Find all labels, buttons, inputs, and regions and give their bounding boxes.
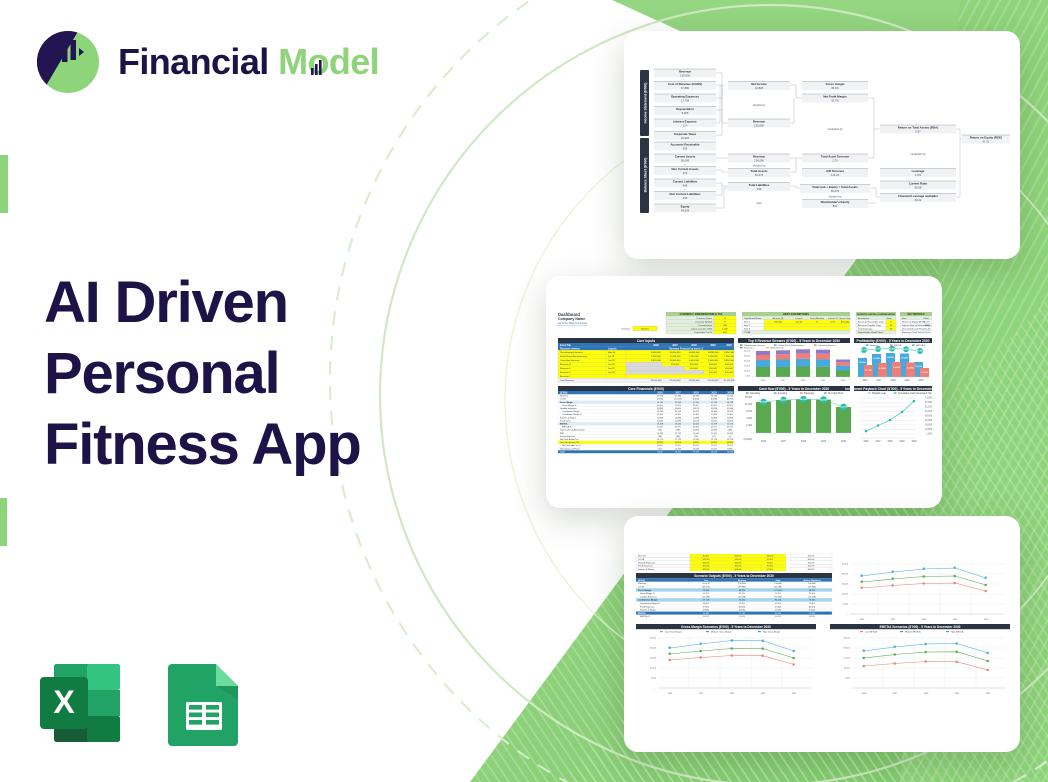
svg-text:40,000: 40,000 (745, 404, 753, 406)
svg-text:2027: 2027 (675, 392, 681, 395)
brand-name-secondary: Model (278, 41, 379, 82)
svg-text:650,000: 650,000 (725, 364, 734, 366)
logo-bar-glyph-icon (306, 56, 328, 78)
svg-text:Revenue Forecast by years, $: Revenue Forecast by years, $ (669, 347, 703, 350)
svg-text:11,535: 11,535 (693, 439, 700, 441)
svg-text:TOTAL: TOTAL (744, 331, 752, 334)
svg-text:65.3%: 65.3% (903, 349, 909, 351)
svg-text:45,218: 45,218 (780, 399, 787, 402)
svg-text:14,700: 14,700 (893, 366, 900, 369)
scenario-svg: .t2 {font:3.2px "Liberation Sans",sans-s… (634, 552, 1010, 730)
svg-text:34,013: 34,013 (840, 406, 847, 409)
svg-text:136,800: 136,800 (808, 583, 816, 585)
svg-text:Total Liabilities: Total Liabilities (749, 183, 770, 187)
svg-text:EBITDA: EBITDA (894, 344, 902, 347)
svg-text:42,000: 42,000 (744, 351, 751, 353)
svg-text:60.2%: 60.2% (775, 616, 781, 618)
svg-text:550,000: 550,000 (709, 364, 718, 366)
brand-name-primary: Financial (118, 41, 269, 82)
svg-text:High Gross Margin: High Gross Margin (763, 630, 781, 633)
svg-text:120.0%: 120.0% (766, 556, 773, 558)
svg-text:26,930: 26,930 (693, 396, 700, 398)
svg-text:18,000: 18,000 (925, 425, 932, 427)
svg-text:5,000: 5,000 (843, 604, 849, 606)
svg-text:100.0%: 100.0% (807, 559, 814, 561)
svg-text:11,091: 11,091 (711, 448, 718, 450)
svg-text:100.0%: 100.0% (734, 569, 741, 571)
svg-text:Medium Gross Margin: Medium Gross Margin (711, 630, 732, 633)
svg-text:Revenue: Revenue (679, 70, 691, 74)
svg-text:1,000: 1,000 (746, 425, 752, 427)
svg-text:144.24: 144.24 (831, 173, 840, 177)
svg-text:45.6%: 45.6% (657, 427, 663, 429)
svg-text:Currency Name: Currency Name (697, 317, 713, 320)
svg-text:Jan 28: Jan 28 (608, 364, 615, 366)
svg-text:49.5%: 49.5% (675, 427, 681, 429)
svg-text:550,000: 550,000 (671, 364, 680, 366)
svg-text:Fixed Expenses: Fixed Expenses (640, 606, 655, 608)
svg-text:52,887: 52,887 (703, 613, 710, 615)
svg-text:Operating: Operating (750, 392, 761, 395)
svg-text:26,000: 26,000 (925, 420, 932, 422)
svg-text:4,640,000: 4,640,000 (689, 360, 700, 362)
svg-text:Interest Expense: Interest Expense (560, 435, 576, 438)
svg-text:Revenue 5: Revenue 5 (560, 368, 571, 370)
svg-text:(9,426): (9,426) (693, 399, 700, 401)
dupont-tree-card[interactable]: .lbl{font:2.9px "Liberation Sans",sans-s… (624, 31, 1020, 259)
svg-text:Return on Equity (ROE): Return on Equity (ROE) (902, 320, 925, 323)
svg-text:26,530: 26,530 (711, 396, 718, 398)
svg-text:Physiotherapy Services: Physiotherapy Services (744, 344, 765, 347)
svg-text:16,890,000: 16,890,000 (708, 352, 720, 354)
svg-text:Item 2: Item 2 (744, 324, 751, 327)
svg-text:(1,080): (1,080) (727, 417, 734, 419)
svg-text:30,000: 30,000 (842, 574, 849, 576)
svg-text:Salaries & Wages: Salaries & Wages (640, 609, 656, 612)
svg-text:(1,372): (1,372) (727, 420, 734, 422)
svg-text:Other Revenue: Other Revenue (770, 347, 784, 350)
svg-text:Total Revenue: Total Revenue (560, 379, 575, 382)
svg-text:(8,792): (8,792) (727, 399, 734, 401)
svg-text:65.0%: 65.0% (727, 405, 733, 407)
svg-text:65.0%: 65.0% (739, 593, 745, 595)
svg-text:76,352: 76,352 (739, 600, 746, 602)
svg-text:11,300: 11,300 (865, 370, 872, 372)
svg-text:450,000: 450,000 (725, 368, 734, 370)
svg-text:2028: 2028 (801, 441, 807, 443)
svg-text:25,120: 25,120 (727, 396, 734, 398)
svg-text:(5,400): (5,400) (739, 610, 746, 612)
svg-text:15,120: 15,120 (915, 366, 922, 368)
svg-text:(1,080): (1,080) (675, 417, 682, 419)
svg-text:95,152: 95,152 (775, 600, 782, 602)
svg-text:40,000: 40,000 (844, 638, 851, 640)
svg-text:Cost of Revenue (COGS): Cost of Revenue (COGS) (668, 82, 702, 86)
svg-text:2026: 2026 (761, 441, 767, 443)
svg-text:Depreciation: Depreciation (676, 107, 694, 111)
svg-text:34.7%: 34.7% (711, 445, 717, 447)
svg-text:107,094: 107,094 (774, 590, 782, 592)
svg-text:100.0%: 100.0% (807, 556, 814, 558)
svg-text:11,563: 11,563 (693, 433, 700, 435)
svg-text:20,000: 20,000 (650, 648, 657, 650)
svg-text:11,278: 11,278 (727, 439, 734, 441)
svg-text:2027: 2027 (781, 380, 786, 382)
svg-text:Denomination: Denomination (699, 324, 713, 327)
svg-text:(3,052): (3,052) (657, 442, 664, 444)
svg-text:EBIT: EBIT (560, 433, 565, 435)
svg-text:51,000: 51,000 (925, 407, 932, 409)
svg-text:46.9%: 46.9% (693, 427, 699, 429)
svg-text:Gross margin: Gross margin (826, 82, 845, 86)
svg-text:Core Inputs: Core Inputs (637, 339, 655, 343)
svg-text:Company Name: Company Name (558, 317, 585, 321)
svg-text:2027: 2027 (699, 693, 704, 695)
svg-text:(3,352): (3,352) (711, 442, 718, 444)
svg-text:COGS: COGS (560, 399, 567, 401)
svg-text:62.0%: 62.0% (917, 351, 923, 353)
svg-text:Revenue streams: Revenue streams (560, 347, 580, 350)
svg-text:32.7%: 32.7% (831, 98, 839, 102)
svg-text:Corporation Tax %: Corporation Tax % (694, 331, 712, 334)
svg-text:2030: 2030 (841, 380, 846, 382)
svg-text:2027: 2027 (891, 619, 896, 621)
svg-text:26,930: 26,930 (887, 357, 894, 359)
svg-text:(4,185): (4,185) (775, 610, 782, 612)
brand-wordmark: Financial Model (118, 41, 379, 83)
svg-text:10,860,000: 10,860,000 (670, 352, 682, 354)
svg-text:EBITDA: EBITDA (638, 612, 646, 615)
svg-text:Latest accounts (Y/N): Latest accounts (Y/N) (691, 328, 712, 331)
svg-text:2027: 2027 (893, 693, 898, 695)
svg-text:10,009: 10,009 (693, 448, 700, 450)
svg-text:COGS: COGS (638, 559, 645, 561)
svg-text:2029: 2029 (711, 392, 717, 395)
svg-text:2028: 2028 (730, 693, 735, 695)
svg-text:30%: 30% (723, 332, 727, 334)
svg-text:8,450,000: 8,450,000 (724, 352, 735, 354)
svg-text:Launch: Launch (608, 347, 617, 350)
svg-text:2029: 2029 (899, 441, 905, 443)
svg-text:(1,245): (1,245) (657, 420, 664, 422)
svg-text:55.8%: 55.8% (711, 414, 717, 416)
svg-text:Corporate Taxes: Corporate Taxes (674, 132, 697, 136)
svg-text:(1,080): (1,080) (657, 417, 664, 419)
svg-text:Revenue: Revenue (638, 556, 647, 558)
svg-text:Income Statement ($'000): Income Statement ($'000) (644, 83, 648, 124)
svg-text:37,460: 37,460 (675, 396, 682, 398)
svg-text:2026: 2026 (657, 392, 663, 395)
svg-text:2030: 2030 (726, 344, 732, 347)
svg-text:(28): (28) (694, 436, 698, 438)
svg-text:(11,940): (11,940) (774, 596, 782, 598)
svg-text:Medium EBITDA: Medium EBITDA (905, 630, 921, 633)
svg-text:Salaries & Wages: Salaries & Wages (638, 568, 654, 571)
svg-text:100.0%: 100.0% (734, 566, 741, 568)
svg-text:13,500: 13,500 (879, 368, 886, 370)
svg-text:(7,928): (7,928) (657, 399, 664, 401)
svg-text:100.0%: 100.0% (807, 569, 814, 571)
svg-text:Investing: Investing (778, 392, 788, 395)
svg-text:44.1%: 44.1% (703, 616, 709, 618)
financial-model-circle-logo (34, 28, 102, 96)
svg-text:25,120,000: 25,120,000 (724, 380, 736, 382)
svg-text:DEBT ASSUMPTIONS: DEBT ASSUMPTIONS (783, 313, 809, 316)
svg-text:(7,921): (7,921) (703, 606, 710, 608)
page-title: AI Driven Personal Fitness App (44, 268, 464, 480)
svg-text:2030: 2030 (792, 693, 797, 695)
svg-text:Total Liab + Equity = Total As: Total Liab + Equity = Total Assets (812, 185, 858, 189)
svg-text:105.0%: 105.0% (702, 559, 709, 561)
svg-text:Discounted Cash Flow: Discounted Cash Flow (902, 328, 924, 331)
svg-text:4,640,000: 4,640,000 (708, 360, 719, 362)
svg-text:44,828: 44,828 (755, 86, 764, 90)
svg-text:Payback year: Payback year (872, 392, 886, 395)
svg-text:24,349: 24,349 (675, 402, 682, 404)
svg-text:32,000: 32,000 (744, 361, 751, 363)
svg-text:COGS: COGS (638, 587, 645, 589)
svg-text:34.7%: 34.7% (693, 445, 699, 447)
svg-text:65.0%: 65.0% (675, 405, 681, 407)
svg-text:13,900: 13,900 (907, 368, 914, 370)
svg-text:17,505: 17,505 (693, 402, 700, 404)
svg-text:-: - (685, 102, 686, 106)
svg-text:(8,025): (8,025) (809, 606, 816, 608)
svg-text:101,130: 101,130 (702, 583, 710, 585)
svg-text:42,000: 42,000 (925, 411, 932, 413)
svg-text:(1,289): (1,289) (675, 420, 682, 422)
svg-text:2028: 2028 (801, 380, 806, 382)
svg-text:Revenue: Revenue (753, 155, 765, 159)
svg-text:26,930,000: 26,930,000 (689, 380, 701, 382)
svg-text:Current Liabilities: Current Liabilities (673, 180, 698, 184)
svg-text:38,000: 38,000 (744, 356, 751, 358)
svg-text:Top 5 Revenue Streams ($'000): Top 5 Revenue Streams ($'000) - 5 Years … (748, 339, 840, 343)
svg-text:10,318: 10,318 (657, 424, 664, 426)
svg-text:105: 105 (683, 196, 688, 200)
svg-text:(788): (788) (676, 430, 681, 432)
svg-text:60.22: 60.22 (915, 198, 922, 202)
svg-text:5,000: 5,000 (651, 678, 657, 680)
svg-text:(8,025): (8,025) (739, 606, 746, 608)
svg-text:46.7%: 46.7% (711, 427, 717, 429)
svg-text:(12,568): (12,568) (808, 596, 816, 598)
svg-text:55.8%: 55.8% (809, 603, 815, 605)
svg-text:65.0%: 65.0% (711, 405, 717, 407)
svg-text:26,530,000: 26,530,000 (708, 380, 720, 382)
svg-text:14,722: 14,722 (657, 402, 664, 404)
svg-text:55,000: 55,000 (745, 397, 753, 399)
svg-text:Non Current Assets: Non Current Assets (671, 167, 698, 171)
svg-text:11,285: 11,285 (727, 433, 734, 435)
svg-text:37,460,000: 37,460,000 (670, 380, 682, 382)
svg-text:High: High (776, 580, 782, 582)
svg-text:52.4%: 52.4% (739, 616, 745, 618)
svg-text:65.0%: 65.0% (657, 405, 663, 407)
svg-text:55.8%: 55.8% (739, 603, 745, 605)
svg-text:Equity: Equity (681, 205, 690, 209)
svg-text:64.7%: 64.7% (703, 593, 709, 595)
svg-text:Currency Symbol: Currency Symbol (695, 320, 712, 323)
svg-text:95.0%: 95.0% (767, 566, 773, 568)
svg-text:(2,473): (2,473) (693, 408, 700, 410)
svg-text:($'000): ($'000) (560, 392, 568, 395)
svg-text:multiplied by: multiplied by (827, 127, 843, 131)
svg-text:Revenue: Revenue (638, 583, 647, 585)
svg-text:Profitability ($'000) - 5 Year: Profitability ($'000) - 5 Years to Decem… (857, 339, 930, 343)
svg-text:949: 949 (757, 187, 762, 191)
svg-text:Gross Margin Scenarios ($'000): Gross Margin Scenarios ($'000) - 5 Years… (681, 625, 771, 629)
svg-text:Consulting Services: Consulting Services (560, 359, 580, 362)
svg-text:(7): (7) (729, 436, 732, 438)
svg-text:22,650,000: 22,650,000 (651, 380, 663, 382)
svg-text:8,850,000: 8,850,000 (724, 360, 735, 362)
svg-text:2030: 2030 (984, 619, 989, 621)
dashboard-svg: .t {font:3.3px "Liberation Sans",sans-se… (556, 310, 932, 482)
svg-text:Medium: Medium (738, 580, 746, 582)
svg-text:8,368: 8,368 (727, 448, 733, 450)
svg-text:11,191: 11,191 (711, 433, 718, 435)
svg-text:1,0516: 1,0516 (924, 332, 931, 334)
svg-text:5,000: 5,000 (845, 678, 851, 680)
svg-text:2028: 2028 (887, 441, 893, 443)
svg-text:Item 3: Item 3 (744, 328, 751, 331)
svg-text:105.0%: 105.0% (702, 569, 709, 571)
svg-text:22,650: 22,650 (859, 362, 866, 364)
svg-text:72,000: 72,000 (925, 398, 932, 400)
financial-dashboard-card[interactable]: .t {font:3.3px "Liberation Sans",sans-se… (546, 276, 942, 508)
svg-text:2026: 2026 (653, 344, 659, 347)
svg-text:Fixed Expenses: Fixed Expenses (638, 566, 653, 568)
svg-text:Add: Add (756, 201, 762, 205)
svg-text:Cumulative Cash Generated (Sou: Cumulative Cash Generated (Source) (898, 392, 932, 395)
svg-text:-: - (849, 688, 850, 690)
svg-text:(1,062): (1,062) (693, 430, 700, 432)
microsoft-excel-icon[interactable]: X (36, 660, 124, 748)
svg-text:Gross Margin %: Gross Margin % (562, 405, 577, 407)
svg-text:2027: 2027 (781, 441, 787, 443)
svg-text:1.9%: 1.9% (915, 173, 922, 177)
svg-text:8,450,000: 8,450,000 (651, 352, 662, 354)
svg-text:(38): (38) (676, 436, 680, 438)
svg-text:Jan 28: Jan 28 (608, 360, 615, 362)
svg-text:Active (Medium): Active (Medium) (804, 579, 821, 582)
svg-text:57,719: 57,719 (703, 600, 710, 602)
svg-text:2029: 2029 (953, 619, 958, 621)
svg-text:2026: 2026 (761, 380, 766, 382)
svg-text:1,000: 1,000 (745, 376, 751, 378)
svg-text:A/R Turnover: A/R Turnover (826, 169, 845, 173)
svg-text:10,175: 10,175 (657, 439, 664, 441)
svg-text:Less: Net Income Tax: Less: Net Income Tax (560, 441, 579, 444)
svg-text:100.0%: 100.0% (734, 556, 741, 558)
svg-text:Revenue 6: Revenue 6 (560, 372, 571, 374)
svg-text:(10,000): (10,000) (743, 439, 752, 441)
svg-text:27,000: 27,000 (744, 366, 751, 368)
svg-text:10,000: 10,000 (650, 668, 657, 670)
svg-text:70,856: 70,856 (703, 590, 710, 592)
svg-text:-: - (685, 90, 686, 94)
svg-text:EBITDA %: EBITDA % (562, 426, 572, 429)
svg-text:105.0%: 105.0% (702, 562, 709, 564)
svg-text:10,000: 10,000 (844, 668, 851, 670)
svg-text:2026: 2026 (668, 693, 673, 695)
svg-text:938: 938 (683, 146, 688, 150)
svg-text:2028: 2028 (924, 693, 929, 695)
svg-text:91,205: 91,205 (775, 613, 782, 615)
svg-text:WORKING CAPITAL & DEPRECIATION: WORKING CAPITAL & DEPRECIATION (857, 313, 895, 316)
svg-text:14,809: 14,809 (711, 411, 718, 413)
svg-text:(2,080): (2,080) (657, 408, 664, 410)
google-sheets-icon[interactable] (166, 660, 242, 748)
svg-text:35.0%: 35.0% (727, 445, 733, 447)
svg-text:18,540: 18,540 (675, 424, 682, 426)
svg-text:Revenue 4: Revenue 4 (560, 364, 571, 366)
svg-text:Non Current Liabilities: Non Current Liabilities (670, 192, 701, 196)
svg-text:14,022: 14,022 (727, 411, 734, 413)
svg-text:(4,845): (4,845) (703, 610, 710, 612)
headline-line-1: AI Driven (44, 268, 464, 339)
svg-text:(285): (285) (728, 430, 733, 432)
svg-text:2026: 2026 (863, 441, 869, 443)
svg-text:Gross Margin: Gross Margin (560, 402, 574, 404)
svg-text:Contribution Margin %: Contribution Margin % (640, 602, 660, 605)
svg-text:10,000: 10,000 (925, 429, 932, 431)
svg-text:100.0%: 100.0% (807, 566, 814, 568)
svg-text:10,255: 10,255 (657, 433, 664, 435)
svg-text:55.8%: 55.8% (657, 414, 663, 416)
svg-text:20,000: 20,000 (842, 594, 849, 596)
svg-text:Low EBITDA: Low EBITDA (865, 630, 878, 633)
svg-text:Financing: Financing (804, 393, 815, 395)
scenario-analysis-card[interactable]: .t2 {font:3.2px "Liberation Sans",sans-s… (624, 516, 1020, 752)
svg-text:Grace Days: Grace Days (839, 317, 851, 320)
svg-text:Net Cash Flow: Net Cash Flow (828, 392, 843, 395)
svg-text:2028: 2028 (922, 619, 927, 621)
dupont-tree-svg: .lbl{font:2.9px "Liberation Sans",sans-s… (632, 63, 1012, 233)
svg-text:55.8%: 55.8% (727, 414, 733, 416)
svg-text:(9,286): (9,286) (711, 399, 718, 401)
svg-text:2029: 2029 (821, 441, 827, 443)
headline-line-2: Personal (44, 339, 464, 410)
svg-text:Operating Expenses: Operating Expenses (671, 95, 699, 99)
svg-text:(3,461): (3,461) (693, 442, 700, 444)
svg-text:(7,582): (7,582) (775, 606, 782, 608)
svg-text:(17): (17) (712, 436, 716, 438)
svg-text:88,920: 88,920 (739, 590, 746, 592)
svg-text:divided by: divided by (753, 103, 766, 107)
svg-text:46.1%: 46.1% (727, 427, 733, 429)
svg-text:8,000: 8,000 (746, 411, 752, 413)
svg-text:Total Asset Turnover: Total Asset Turnover (821, 155, 850, 159)
svg-text:80.0%: 80.0% (703, 556, 709, 558)
svg-text:100.0%: 100.0% (734, 562, 741, 564)
svg-text:0.87: 0.87 (915, 129, 921, 133)
svg-text:2030: 2030 (918, 380, 924, 382)
svg-text:11,570: 11,570 (727, 424, 734, 426)
svg-text:2030: 2030 (986, 693, 991, 695)
svg-text:105.0%: 105.0% (702, 566, 709, 568)
svg-text:Physiotherapy Services: Physiotherapy Services (560, 351, 584, 354)
svg-text:(1,327): (1,327) (693, 420, 700, 422)
svg-text:11,950,000: 11,950,000 (670, 356, 682, 358)
svg-text:Contribution Margin: Contribution Margin (638, 599, 658, 602)
svg-text:High EBITDA: High EBITDA (951, 630, 964, 633)
svg-text:(5,400): (5,400) (809, 610, 816, 612)
svg-text:Clinical Patch Manufacturing: Clinical Patch Manufacturing (778, 344, 803, 347)
svg-text:EBITDA: EBITDA (560, 423, 568, 426)
svg-text:15,000: 15,000 (744, 371, 751, 373)
